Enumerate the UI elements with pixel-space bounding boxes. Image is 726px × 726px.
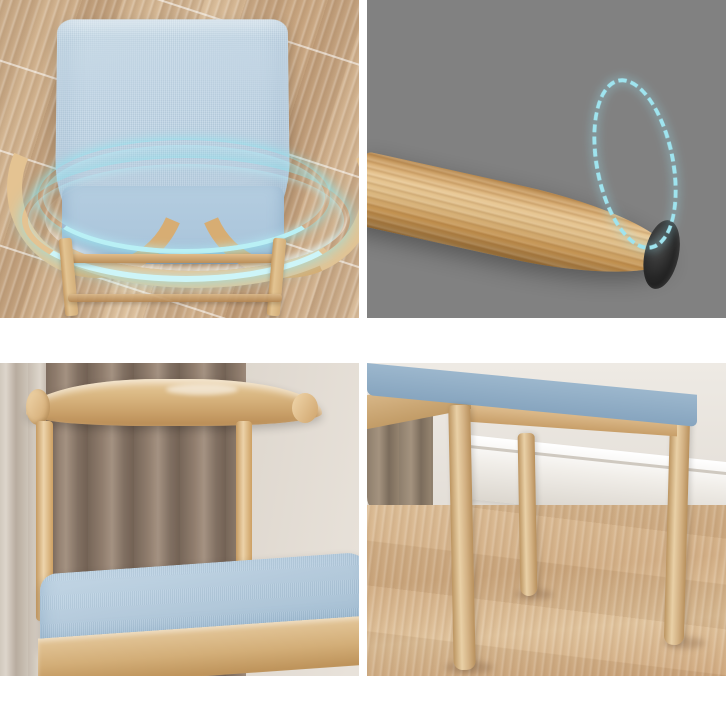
feature-panel-3d-transfer-finish[interactable]: LAPISAN TRANSFER 3D bbox=[0, 363, 359, 726]
panel-photo-floor-protection bbox=[367, 0, 726, 318]
chair-lumbar-rail bbox=[28, 150, 359, 288]
product-feature-infographic: PASANG PUNGGUNG ANDA LINDUNGI LANTAI AND… bbox=[0, 0, 726, 726]
panel-photo-ergonomic-back bbox=[0, 0, 359, 318]
chair-back-post-right bbox=[236, 421, 252, 571]
feature-panel-metal-frame[interactable]: BINGKAI LOGAM (BANTALAN 200KG) bbox=[367, 363, 726, 726]
vertical-gutter bbox=[359, 0, 367, 726]
feature-panel-ergonomic-back[interactable]: PASANG PUNGGUNG ANDA bbox=[0, 0, 359, 363]
chair-rail-end-knob-right bbox=[292, 393, 318, 423]
table-leg-mid bbox=[518, 433, 538, 596]
chair-stretcher-bar bbox=[70, 254, 278, 263]
chair-foot-rail bbox=[68, 294, 282, 302]
curtain-hem bbox=[367, 415, 433, 515]
horizontal-gutter-top bbox=[0, 318, 726, 363]
chair-rail-end-knob-left bbox=[26, 389, 50, 425]
feature-panel-floor-protection[interactable]: LINDUNGI LANTAI ANDA bbox=[367, 0, 726, 363]
panel-photo-3d-transfer-finish bbox=[0, 363, 359, 676]
panel-photo-metal-frame bbox=[367, 363, 726, 676]
horizontal-gutter-bottom bbox=[0, 676, 726, 726]
